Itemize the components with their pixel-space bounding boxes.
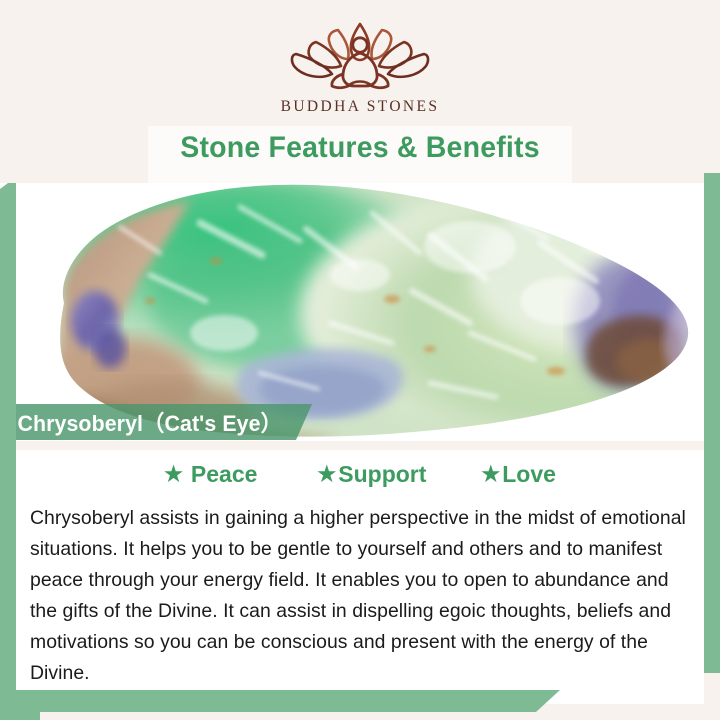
frame-band-bottom bbox=[0, 690, 560, 712]
infographic-page: BUDDHA STONES Stone Features & Benefits bbox=[0, 0, 720, 720]
stone-photo bbox=[0, 183, 720, 441]
keyword-peace: ★ Peace bbox=[164, 461, 257, 488]
description-text: Chrysoberyl assists in gaining a higher … bbox=[30, 503, 696, 689]
frame-band-left bbox=[0, 183, 16, 704]
star-icon: ★ bbox=[317, 464, 336, 485]
stone-name-label: Chrysoberyl（Cat's Eye） bbox=[0, 406, 282, 438]
panel-top-strip bbox=[16, 441, 704, 450]
stone-name-tag: Chrysoberyl（Cat's Eye） bbox=[0, 404, 312, 440]
keyword-label: Support bbox=[338, 461, 426, 488]
frame-band-right bbox=[704, 173, 720, 673]
keyword-love: ★ Love bbox=[481, 461, 556, 488]
keyword-row: ★ Peace ★ Support ★ Love bbox=[16, 461, 704, 488]
page-title: Stone Features & Benefits bbox=[18, 131, 702, 165]
keyword-support: ★ Support bbox=[317, 461, 426, 488]
brand-logo: BUDDHA STONES bbox=[0, 18, 720, 128]
lotus-meditation-icon bbox=[276, 18, 444, 96]
keyword-label: Love bbox=[502, 461, 556, 488]
brand-name: BUDDHA STONES bbox=[281, 98, 440, 116]
star-icon: ★ bbox=[481, 464, 500, 485]
keyword-label: Peace bbox=[191, 461, 258, 488]
star-icon: ★ bbox=[164, 464, 183, 485]
